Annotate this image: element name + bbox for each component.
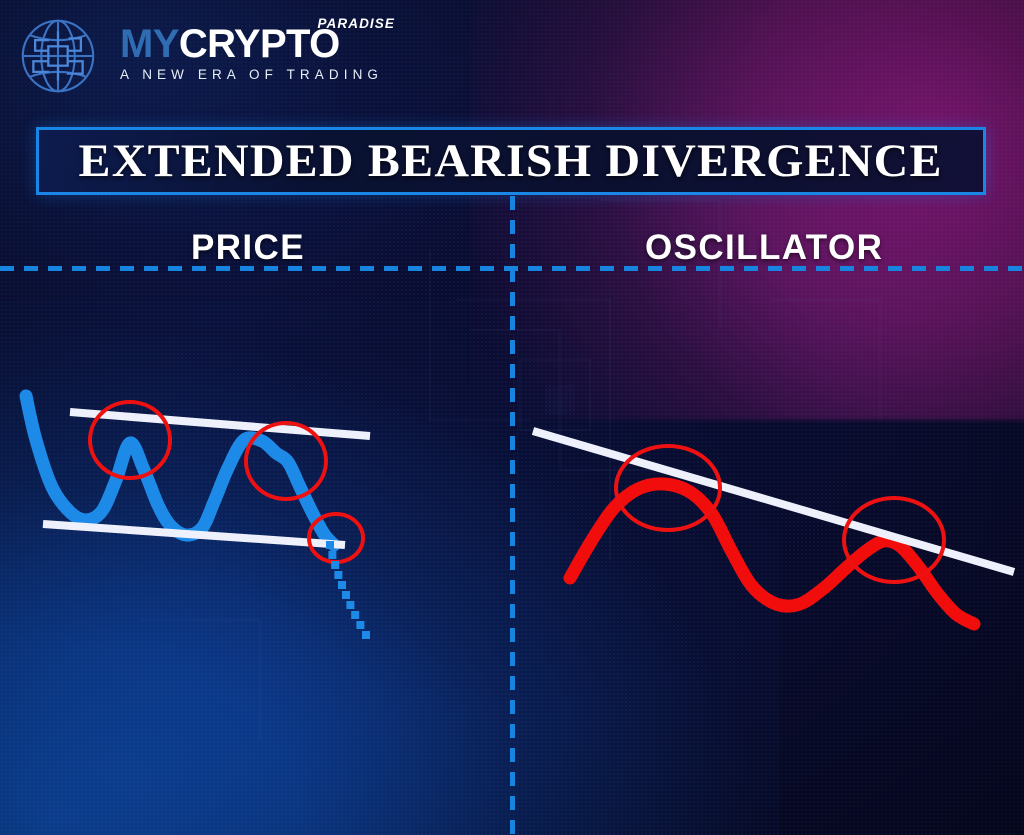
divider-vertical (510, 196, 515, 835)
brand-name-part1: MY (120, 22, 179, 66)
brand-superscript: PARADISE (317, 16, 395, 31)
globe-circuit-icon (14, 12, 102, 100)
brand-tagline: A NEW ERA OF TRADING (120, 67, 400, 82)
section-label-price: PRICE (191, 228, 305, 268)
page-title: EXTENDED BEARISH DIVERGENCE (79, 134, 943, 188)
brand-logo: PARADISE MYCRYPTO A NEW ERA OF TRADING (14, 8, 394, 100)
infographic-canvas: PARADISE MYCRYPTO A NEW ERA OF TRADING E… (0, 0, 1024, 835)
title-banner: EXTENDED BEARISH DIVERGENCE (36, 127, 986, 195)
brand-wordmark: PARADISE MYCRYPTO A NEW ERA OF TRADING (120, 22, 400, 82)
section-label-oscillator: OSCILLATOR (645, 228, 883, 268)
brand-name-part2: CRYPTO (179, 22, 340, 66)
